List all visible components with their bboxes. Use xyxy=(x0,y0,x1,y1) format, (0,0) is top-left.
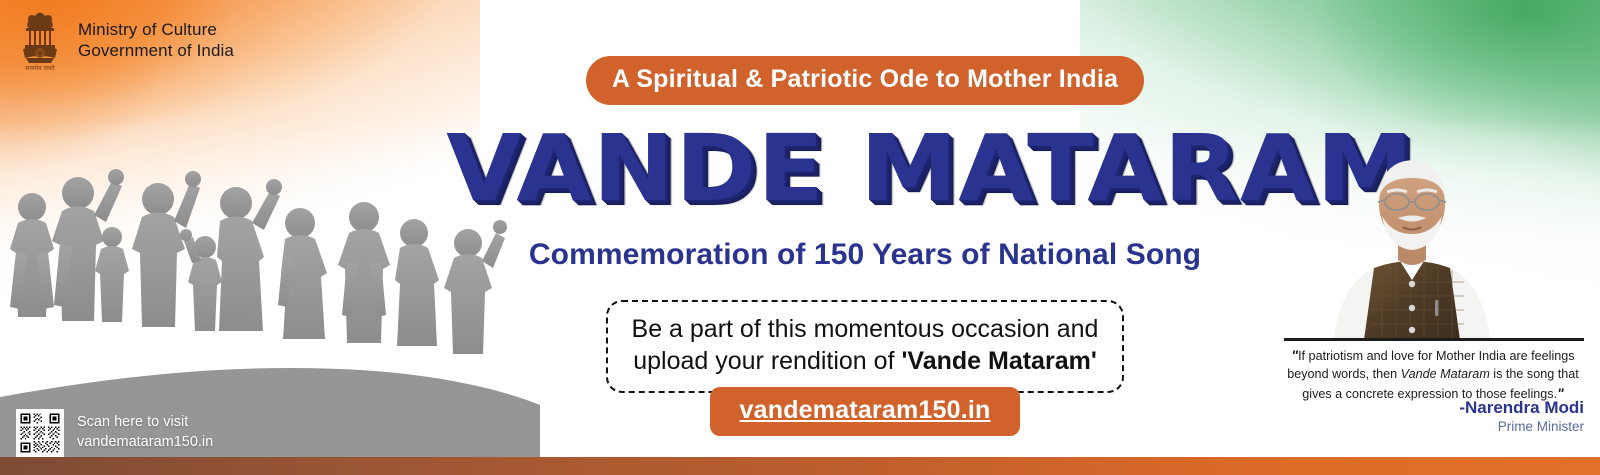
ministry-branding: सत्यमेव जयते Ministry of Culture Governm… xyxy=(14,10,234,72)
pm-quote: "If patriotism and love for Mother India… xyxy=(1282,346,1584,404)
ashoka-lion-capital-emblem-icon: सत्यमेव जयते xyxy=(14,10,66,72)
quote-author: -Narendra Modi xyxy=(1282,398,1584,418)
qr-caption-line-1: Scan here to visit xyxy=(77,413,213,433)
website-url-button[interactable]: vandemataram150.in xyxy=(710,387,1021,436)
cta-line-2-prefix: upload your rendition of xyxy=(633,347,901,375)
qr-code-icon[interactable] xyxy=(16,409,64,457)
emblem-motto-text: सत्यमेव जयते xyxy=(25,64,55,72)
vande-mataram-banner: सत्यमेव जयते Ministry of Culture Governm… xyxy=(0,0,1600,475)
cta-line-1: Be a part of this momentous occasion and xyxy=(632,313,1099,346)
quote-emphasis: Vande Mataram xyxy=(1401,367,1490,381)
bottom-accent-bar xyxy=(0,457,1600,475)
url-button-row: vandemataram150.in xyxy=(470,393,1260,436)
quote-author-role: Prime Minister xyxy=(1282,419,1584,434)
qr-caption-line-2: vandemataram150.in xyxy=(77,433,213,453)
portrait-illustration xyxy=(1302,132,1522,340)
center-content: A Spiritual & Patriotic Ode to Mother In… xyxy=(470,0,1260,475)
quote-divider xyxy=(1284,338,1584,341)
quote-attribution: -Narendra Modi Prime Minister xyxy=(1282,398,1584,434)
page-subtitle: Commemoration of 150 Years of National S… xyxy=(470,238,1260,272)
qr-caption: Scan here to visit vandemataram150.in xyxy=(77,413,213,452)
page-title: VANDE MATARAM xyxy=(446,127,1283,212)
prime-minister-portrait xyxy=(1302,132,1522,340)
ministry-line-2: Government of India xyxy=(78,41,234,62)
tagline-badge: A Spiritual & Patriotic Ode to Mother In… xyxy=(586,56,1144,105)
cta-line-2-emphasis: 'Vande Mataram' xyxy=(901,347,1096,375)
qr-scan-block[interactable]: Scan here to visit vandemataram150.in xyxy=(16,409,213,457)
cta-line-2: upload your rendition of 'Vande Mataram' xyxy=(632,345,1099,378)
ministry-line-1: Ministry of Culture xyxy=(78,20,234,41)
ministry-name: Ministry of Culture Government of India xyxy=(78,20,234,61)
call-to-action-box: Be a part of this momentous occasion and… xyxy=(606,300,1125,393)
